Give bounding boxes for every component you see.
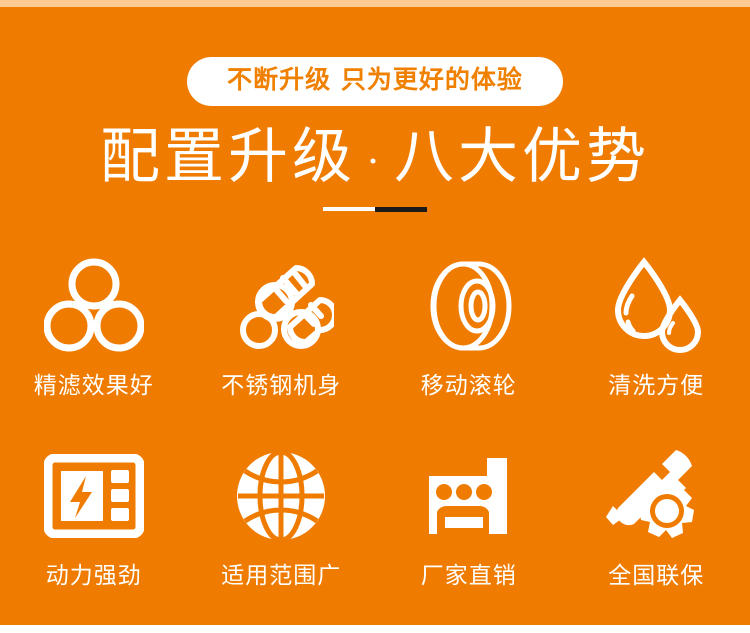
- divider-white-segment: [323, 207, 375, 211]
- feature-grid: 精滤效果好: [0, 252, 750, 632]
- feature-label: 厂家直销: [421, 556, 517, 590]
- factory-icon: [419, 442, 519, 550]
- page-title: 配置升级·八大优势: [0, 124, 750, 191]
- tagline-badge: 不断升级 只为更好的体验: [187, 57, 563, 106]
- wrench-gear-icon: [604, 442, 708, 550]
- feature-item-stainless-body: 不锈钢机身: [188, 252, 376, 442]
- promo-banner: 不断升级 只为更好的体验 配置升级·八大优势 精滤效果好: [0, 0, 750, 633]
- feature-item-factory-direct: 厂家直销: [375, 442, 563, 632]
- feature-label: 精滤效果好: [34, 366, 154, 400]
- feature-label: 适用范围广: [221, 556, 341, 590]
- badge-container: 不断升级 只为更好的体验: [0, 57, 750, 106]
- feature-item-power: 动力强劲: [0, 442, 188, 632]
- water-droplets-icon: [606, 252, 706, 360]
- wheel-caster-icon: [423, 252, 515, 360]
- feature-label: 动力强劲: [46, 556, 142, 590]
- feature-label: 全国联保: [608, 556, 704, 590]
- title-part-1: 配置升级: [100, 124, 356, 190]
- power-lightning-panel-icon: [44, 442, 144, 550]
- divider-dark-segment: [375, 207, 427, 212]
- stacked-pipes-icon: [228, 252, 334, 360]
- feature-item-casters: 移动滚轮: [375, 252, 563, 442]
- divider-rule: [323, 207, 427, 212]
- banner-header: 不断升级 只为更好的体验 配置升级·八大优势: [0, 7, 750, 212]
- feature-item-filter: 精滤效果好: [0, 252, 188, 442]
- top-accent-strip: [0, 0, 750, 7]
- feature-label: 不锈钢机身: [221, 366, 341, 400]
- title-separator: ·: [356, 139, 394, 185]
- feature-label: 移动滚轮: [421, 366, 517, 400]
- three-circles-filter-icon: [44, 252, 144, 360]
- feature-item-warranty: 全国联保: [563, 442, 750, 632]
- feature-item-wide-range: 适用范围广: [188, 442, 376, 632]
- bottom-accent-strip: [0, 625, 750, 633]
- feature-label: 清洗方便: [608, 366, 704, 400]
- feature-item-easy-clean: 清洗方便: [563, 252, 750, 442]
- divider: [0, 207, 750, 212]
- globe-icon: [233, 442, 329, 550]
- title-part-2: 八大优势: [394, 124, 650, 190]
